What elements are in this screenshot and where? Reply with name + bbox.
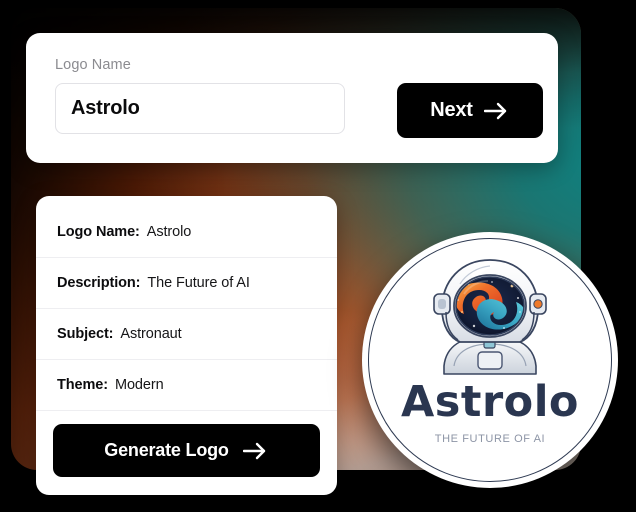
logo-details-card: Logo Name: Astrolo Description: The Futu… (36, 196, 337, 495)
detail-row-description: Description: The Future of AI (36, 258, 337, 309)
next-button-label: Next (430, 99, 473, 122)
badge-wordmark: Astrolo (401, 381, 579, 424)
generate-logo-button[interactable]: Generate Logo (53, 424, 320, 477)
arrow-right-icon (484, 102, 510, 120)
detail-value: Astrolo (147, 224, 191, 240)
detail-row-logo-name: Logo Name: Astrolo (36, 207, 337, 258)
detail-value: Modern (115, 377, 164, 393)
logo-preview-badge[interactable]: Astrolo THE FUTURE OF AI (362, 232, 618, 488)
logo-name-form-card: Logo Name Astrolo Next (26, 33, 558, 163)
badge-content: Astrolo THE FUTURE OF AI (362, 232, 618, 488)
detail-row-theme: Theme: Modern (36, 360, 337, 411)
detail-key: Logo Name: (57, 224, 140, 240)
astronaut-helmet-icon (424, 254, 556, 380)
detail-key: Subject: (57, 326, 113, 342)
detail-row-subject: Subject: Astronaut (36, 309, 337, 360)
next-button[interactable]: Next (397, 83, 543, 138)
arrow-right-icon (243, 442, 269, 460)
screenshot-stage: Logo Name Astrolo Next Logo Name: Astrol… (0, 0, 636, 512)
generate-logo-button-label: Generate Logo (104, 440, 228, 461)
detail-key: Theme: (57, 377, 108, 393)
badge-tagline: THE FUTURE OF AI (435, 433, 545, 445)
logo-name-input[interactable]: Astrolo (55, 83, 345, 134)
detail-key: Description: (57, 275, 140, 291)
detail-value: The Future of AI (147, 275, 249, 291)
detail-value: Astronaut (120, 326, 181, 342)
logo-name-label: Logo Name (55, 57, 131, 73)
